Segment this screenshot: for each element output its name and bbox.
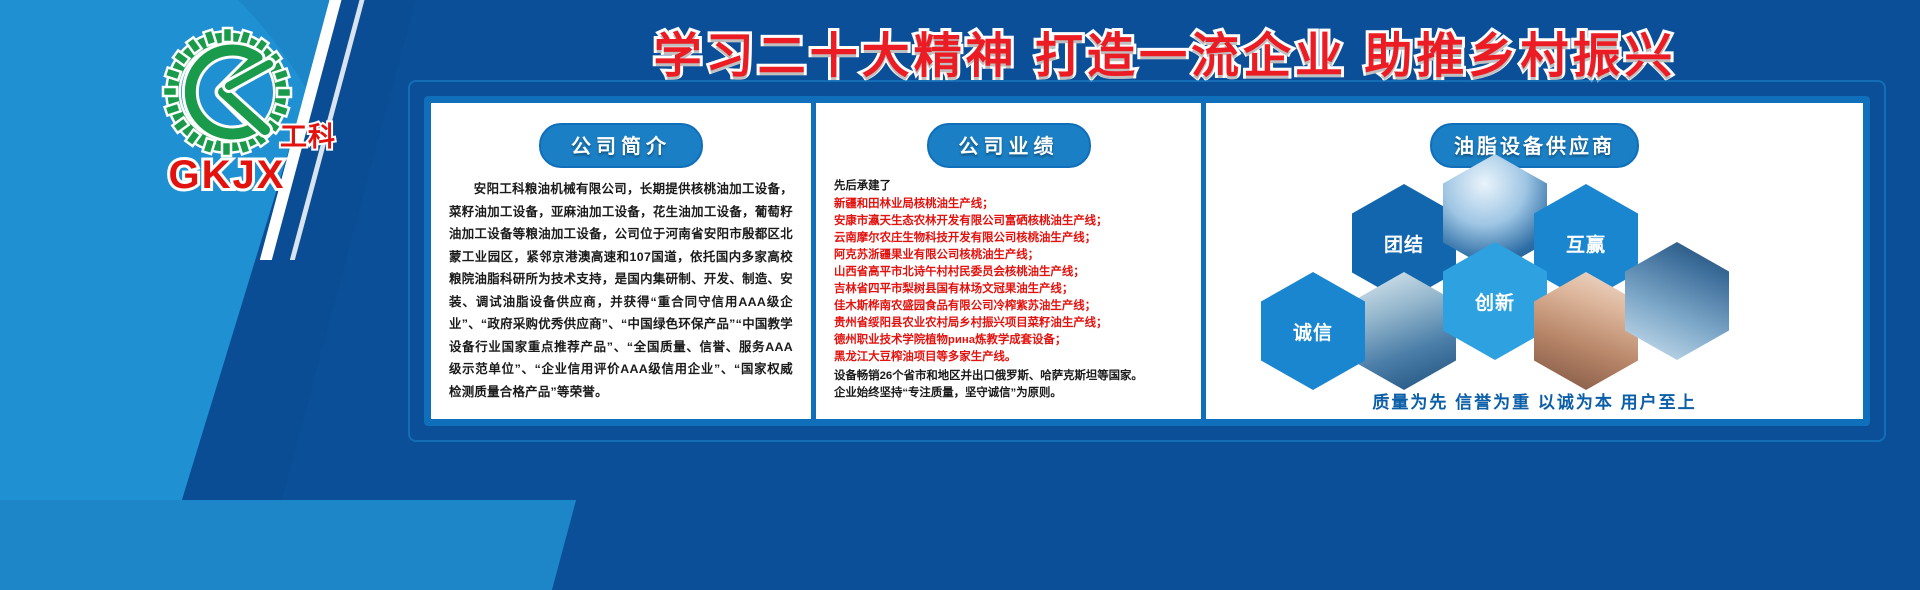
- bottom-light-band: [0, 500, 576, 590]
- list-item: 吉林省四平市梨树县国有林场文冠果油生产线；: [834, 281, 1183, 298]
- list-item: 佳木斯桦南农盛园食品有限公司冷榨紫苏油生产线；: [834, 298, 1183, 315]
- supplier-slogan: 质量为先 信誉为重 以诚为本 用户至上: [1206, 388, 1863, 413]
- achievements-intro: 先后承建了: [834, 178, 1183, 195]
- achievements-footer-line: 企业始终坚持“专注质量，坚守诚信”为原则。: [834, 385, 1183, 402]
- list-item: 新疆和田林业局核桃油生产线；: [834, 196, 1183, 213]
- logo-english-name: GKJX: [112, 153, 342, 198]
- hex-tile-integrity: 诚信: [1261, 272, 1365, 390]
- company-logo: 工科 GKJX: [112, 26, 342, 206]
- logo-chinese-name: 工科: [280, 115, 336, 154]
- list-item: 贵州省绥阳县农业农村局乡村振兴项目菜籽油生产线；: [834, 315, 1183, 332]
- panel-achievements: 公司业绩 先后承建了 新疆和田林业局核桃油生产线； 安康市瀛天生态农林开发有限公…: [811, 103, 1201, 419]
- content-card: 公司简介 安阳工科粮油机械有限公司，长期提供核桃油加工设备，菜籽油加工设备，亚麻…: [424, 96, 1870, 426]
- list-item: 安康市瀛天生态农林开发有限公司富硒核桃油生产线；: [834, 213, 1183, 230]
- list-item: 云南摩尔农庄生物科技开发有限公司核桃油生产线；: [834, 230, 1183, 247]
- panel-title-achievements: 公司业绩: [927, 123, 1091, 168]
- hex-tile-innovation: 创新: [1443, 242, 1547, 360]
- hexagon-cluster: 团结 互赢 创新 诚信: [1224, 178, 1845, 396]
- list-item: 阿克苏浙疆果业有限公司核桃油生产线；: [834, 247, 1183, 264]
- banner-headline: 学习二十大精神 打造一流企业 助推乡村振兴: [430, 16, 1900, 86]
- hex-tile-photo-building: [1625, 242, 1729, 360]
- panel-title-intro: 公司简介: [539, 123, 703, 168]
- achievements-footer: 设备畅销26个省市和地区并出口俄罗斯、哈萨克斯坦等国家。 企业始终坚持“专注质量…: [834, 368, 1183, 402]
- list-item: 德州职业技术学院植物рина炼教学成套设备；: [834, 332, 1183, 349]
- list-item: 山西省高平市北诗午村村民委员会核桃油生产线；: [834, 264, 1183, 281]
- panel-supplier: 油脂设备供应商 团结 互赢 创新 诚信 质量为先 信誉为重 以诚为本 用户至上: [1201, 103, 1863, 419]
- achievements-list: 新疆和田林业局核桃油生产线； 安康市瀛天生态农林开发有限公司富硒核桃油生产线； …: [834, 196, 1183, 366]
- panel-title-supplier: 油脂设备供应商: [1430, 123, 1639, 168]
- poster-banner: 工科 GKJX 学习二十大精神 打造一流企业 助推乡村振兴 公司简介 安阳工科粮…: [0, 0, 1920, 590]
- company-intro-text: 安阳工科粮油机械有限公司，长期提供核桃油加工设备，菜籽油加工设备，亚麻油加工设备…: [449, 178, 793, 403]
- list-item: 黑龙江大豆榨油项目等多家生产线。: [834, 349, 1183, 366]
- hex-tile-photo-handshake: [1534, 272, 1638, 390]
- gear-logo-icon: [161, 26, 293, 158]
- panel-company-intro: 公司简介 安阳工科粮油机械有限公司，长期提供核桃油加工设备，菜籽油加工设备，亚麻…: [431, 103, 811, 419]
- hex-tile-photo-machine: [1352, 272, 1456, 390]
- achievements-footer-line: 设备畅销26个省市和地区并出口俄罗斯、哈萨克斯坦等国家。: [834, 368, 1183, 385]
